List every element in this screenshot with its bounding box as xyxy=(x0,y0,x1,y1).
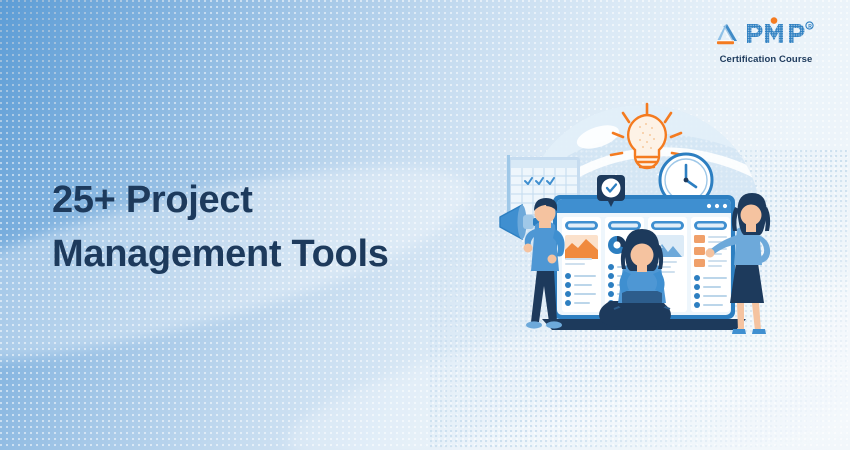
banner: 25+ Project Management Tools xyxy=(0,0,850,450)
headline-line-1: 25+ Project xyxy=(52,174,512,228)
logo-row: R xyxy=(710,18,822,50)
window-dots xyxy=(707,204,727,208)
pmp-logo[interactable]: R Certification Course xyxy=(710,18,822,65)
board-column-4 xyxy=(691,217,730,312)
logo-accent-dot xyxy=(770,17,777,24)
logo-tagline: Certification Course xyxy=(710,54,822,65)
page-title: 25+ Project Management Tools xyxy=(52,174,512,282)
logo-wordmark: R xyxy=(745,17,819,52)
headline-line-2: Management Tools xyxy=(52,228,512,282)
svg-text:R: R xyxy=(808,24,812,30)
board-column-1 xyxy=(562,217,601,312)
project-management-illustration xyxy=(490,95,790,345)
pmp-triangle-icon xyxy=(714,21,740,47)
pmp-wordmark-icon: R xyxy=(745,17,819,47)
background-sweep-3 xyxy=(426,336,850,450)
